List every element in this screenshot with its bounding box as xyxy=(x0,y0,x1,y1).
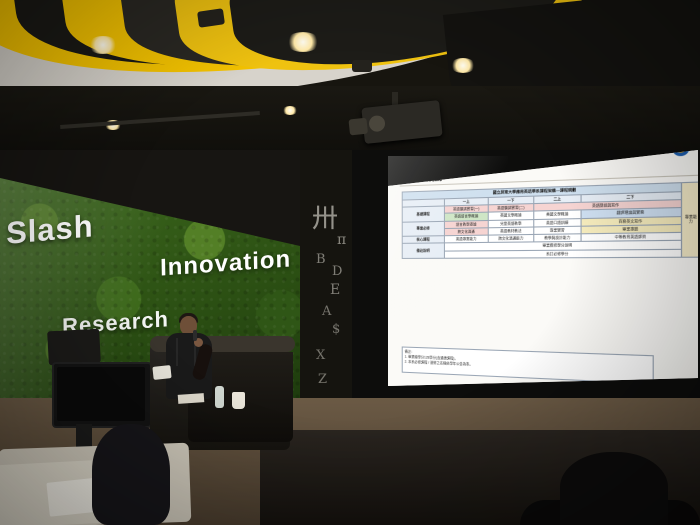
chalk-mark: X xyxy=(316,348,325,363)
audience-person-1 xyxy=(92,424,170,525)
downlight-icon xyxy=(88,36,118,54)
chalk-mark: π xyxy=(337,232,346,248)
laptop xyxy=(47,329,101,366)
ceiling-speaker xyxy=(352,60,372,72)
chalk-mark: $ xyxy=(332,322,340,337)
row-label-1: 基礎課程 xyxy=(402,206,444,222)
table-footer-row: 系訂必修學分 xyxy=(402,249,700,259)
chalk-mark: E xyxy=(330,282,340,298)
slide-clip: 國立屏東大學 • 舊課程規劃 國立屏東大學應用英語學系課程架構—課程規劃 專業能… xyxy=(358,150,698,386)
downlight-icon xyxy=(286,32,320,52)
downlight-icon xyxy=(450,58,476,73)
presenter-lanyard xyxy=(176,338,196,366)
name-badge xyxy=(152,365,171,380)
table-side-header-1: 專業能力 xyxy=(682,182,700,257)
chalk-mark: B xyxy=(316,252,326,267)
slide-notes: 備註： 1. 畢業總學分128學分(含通識課程)。 2. 本系必修課程 / 選修… xyxy=(402,346,654,384)
podium-bottle xyxy=(215,386,224,408)
microphone-icon xyxy=(193,330,197,341)
monitor-screen xyxy=(57,367,145,421)
projector-lens-icon xyxy=(368,115,386,133)
podium-paper xyxy=(178,393,205,404)
wall-word-slash: Slash xyxy=(6,208,94,252)
ceiling xyxy=(0,0,700,165)
audience-person-2 xyxy=(560,452,668,525)
chalk-mark: A xyxy=(322,304,331,319)
monitor xyxy=(52,362,152,428)
chalk-mark: Z xyxy=(318,372,327,387)
downlight-icon xyxy=(282,106,298,115)
footer-cell-2: 系訂必修學分 xyxy=(444,249,681,258)
chalk-mark: D xyxy=(332,264,342,279)
podium-cup xyxy=(232,392,245,409)
curriculum-table: 國立屏東大學應用英語學系課程架構—課程規劃 專業能力 職涯出路 一上 一下 二上… xyxy=(402,181,700,259)
footer-label: 備註說明 xyxy=(402,243,444,258)
row-label-2: 專業必修 xyxy=(402,221,444,237)
chalk-mark: 卅 xyxy=(312,198,338,235)
photo-scene: Slash Innovation Research 卅 π B D E A $ … xyxy=(0,0,700,525)
